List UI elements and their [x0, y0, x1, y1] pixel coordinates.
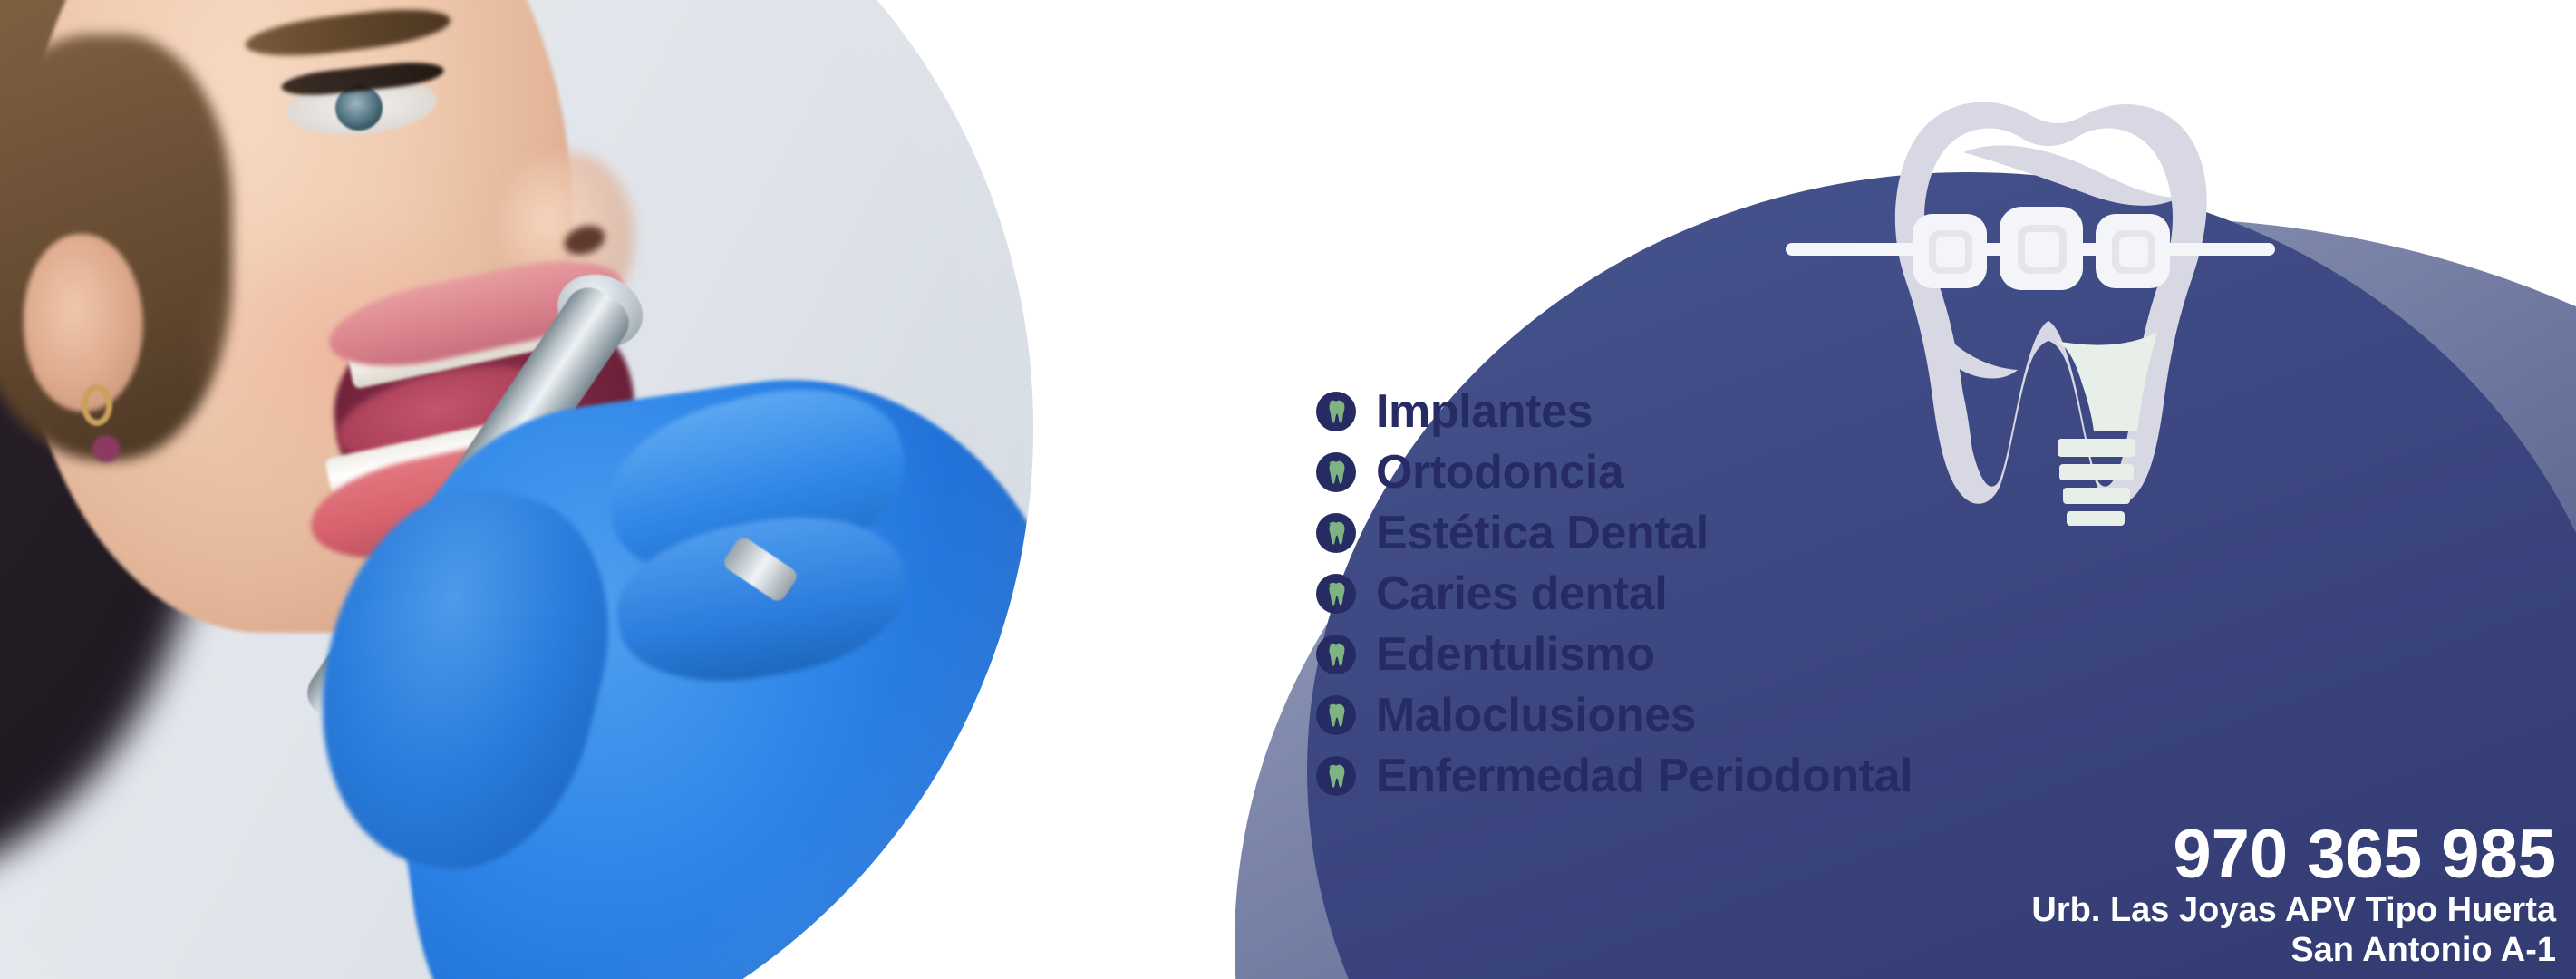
service-label: Estética Dental	[1376, 509, 1709, 557]
service-label: Implantes	[1376, 388, 1593, 435]
address-line-1: Urb. Las Joyas APV Tipo Huerta	[2031, 890, 2556, 930]
address-line-2: San Antonio A-1	[2031, 930, 2556, 970]
service-label: Enfermedad Periodontal	[1376, 752, 1913, 800]
tooth-bullet-icon	[1316, 695, 1356, 735]
service-label: Ortodoncia	[1376, 449, 1623, 496]
service-label: Caries dental	[1376, 570, 1667, 617]
phone-number[interactable]: 970 365 985	[2031, 819, 2556, 890]
service-item[interactable]: Enfermedad Periodontal	[1316, 745, 1913, 806]
service-item[interactable]: Estética Dental	[1316, 502, 1913, 563]
service-item[interactable]: Maloclusiones	[1316, 684, 1913, 745]
patient-photo	[0, 0, 1033, 979]
contact-block: 970 365 985 Urb. Las Joyas APV Tipo Huer…	[2031, 819, 2556, 970]
tooth-bullet-icon	[1316, 513, 1356, 553]
service-item[interactable]: Caries dental	[1316, 563, 1913, 624]
service-item[interactable]: Implantes	[1316, 381, 1913, 441]
tooth-bullet-icon	[1316, 574, 1356, 614]
service-label: Maloclusiones	[1376, 692, 1696, 739]
photo-edge-vignette	[0, 0, 1033, 979]
tooth-bullet-icon	[1316, 452, 1356, 492]
services-list: Implantes Ortodoncia Estética Dental	[1316, 381, 1913, 806]
service-item[interactable]: Ortodoncia	[1316, 441, 1913, 502]
tooth-bullet-icon	[1316, 392, 1356, 431]
service-label: Edentulismo	[1376, 631, 1655, 678]
patient-photo-content	[0, 0, 1033, 979]
tooth-bullet-icon	[1316, 756, 1356, 796]
dental-clinic-banner: Implantes Ortodoncia Estética Dental	[0, 0, 2576, 979]
service-item[interactable]: Edentulismo	[1316, 624, 1913, 684]
tooth-bullet-icon	[1316, 635, 1356, 674]
